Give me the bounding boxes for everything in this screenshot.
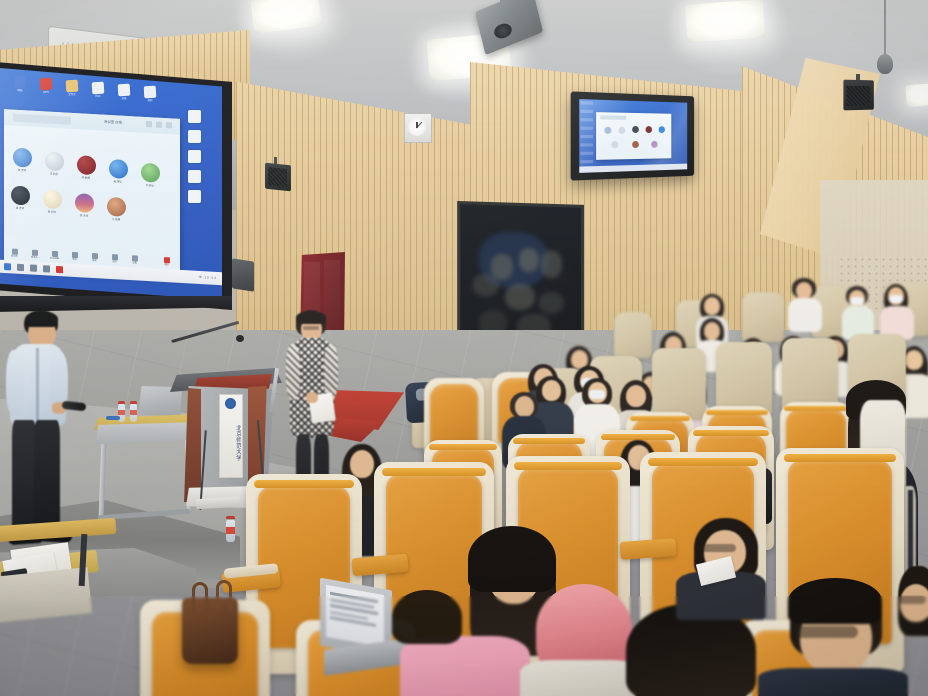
bottle-cap xyxy=(226,516,235,519)
face-mask-icon xyxy=(589,390,605,399)
panel-light-9 xyxy=(905,83,928,107)
eyeglasses-icon xyxy=(898,596,926,604)
eyeglasses-icon xyxy=(796,626,858,638)
university-emblem xyxy=(225,398,236,409)
lecture-hall-photo: 网络 WPS 文件夹 PDF 讲座 材料 会议室 在线 xyxy=(0,0,928,696)
speaker-right-grille xyxy=(846,86,870,106)
face-mask-icon xyxy=(889,295,903,303)
panel-light-4 xyxy=(685,0,765,43)
screen-glare xyxy=(0,68,222,300)
eyeglasses-icon xyxy=(303,326,319,330)
av-control-panel[interactable] xyxy=(232,258,254,291)
bottle-cap xyxy=(118,401,125,404)
hanging-wire xyxy=(884,0,886,56)
wall-mounted-tv[interactable] xyxy=(571,91,694,180)
eyeglasses-icon xyxy=(702,544,736,552)
lectern-plate-text: 北京师范大学 xyxy=(219,412,241,474)
hanging-sensor xyxy=(877,54,893,74)
bottle-label xyxy=(226,527,235,534)
handbag-strap-left xyxy=(192,582,208,611)
tv-screen-glare xyxy=(579,99,687,173)
bottle-cap xyxy=(130,401,137,404)
main-projection-screen[interactable]: 网络 WPS 文件夹 PDF 讲座 材料 会议室 在线 xyxy=(0,68,222,300)
microphone-head-icon xyxy=(236,335,244,342)
projection-screen-base xyxy=(0,296,232,312)
speaker-left-grille xyxy=(268,167,287,187)
bottle-label xyxy=(130,410,137,415)
handbag-strap-right xyxy=(216,580,232,611)
pointer-device[interactable] xyxy=(106,416,120,420)
bottle-label xyxy=(118,410,125,415)
face-mask-icon xyxy=(850,297,864,305)
